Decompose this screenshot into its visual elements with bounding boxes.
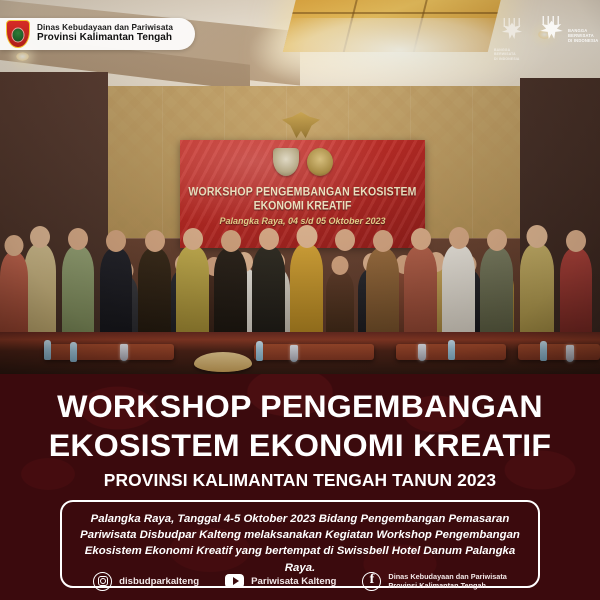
water-bottle <box>448 340 455 360</box>
organization-name: Dinas Kebudayaan dan Pariwisata Provinsi… <box>37 24 173 43</box>
title-line-2: EKOSISTEM EKONOMI KREATIF <box>0 430 600 462</box>
organization-logo-bar: Dinas Kebudayaan dan Pariwisata Provinsi… <box>0 18 195 50</box>
backdrop-emblems <box>260 148 346 178</box>
instagram-icon[interactable] <box>93 572 112 591</box>
wonderful-indonesia-icon: BANGGABERWISATADI INDONESIA <box>500 22 524 48</box>
youtube-link[interactable]: Pariwisata Kalteng <box>225 574 336 588</box>
wonderful-indonesia-icon: BANGGABERWISATADI INDONESIA <box>538 20 565 49</box>
food-platter <box>194 352 252 372</box>
table <box>44 344 174 360</box>
wonderful-indonesia-label: BANGGABERWISATADI INDONESIA <box>494 48 520 61</box>
kalteng-crest-icon <box>273 148 299 176</box>
org-line-2: Provinsi Kalimantan Tengah <box>37 33 173 44</box>
participants-group <box>0 218 600 348</box>
instagram-handle: disbudparkalteng <box>119 576 199 587</box>
instagram-link[interactable]: disbudparkalteng <box>93 572 199 591</box>
drinking-glass <box>120 344 128 361</box>
water-bottle <box>540 341 547 361</box>
facebook-line-1: Dinas Kebudayaan dan Pariwisata <box>388 572 506 581</box>
ministry-emblem-icon <box>307 148 333 176</box>
title-block: WORKSHOP PENGEMBANGAN EKOSISTEM EKONOMI … <box>0 374 600 491</box>
youtube-icon[interactable] <box>225 574 244 588</box>
backdrop-title-line2: EKONOMI KREATIF <box>180 199 425 213</box>
downlight-icon <box>16 52 29 61</box>
poster-content: WORKSHOP PENGEMBANGAN EKOSISTEM EKONOMI … <box>0 374 600 600</box>
water-bottle <box>256 341 263 361</box>
youtube-handle: Pariwisata Kalteng <box>251 576 336 587</box>
facebook-icon[interactable]: f <box>362 572 381 591</box>
table <box>518 344 600 360</box>
water-bottle <box>44 340 51 360</box>
kalteng-crest-icon <box>6 20 30 48</box>
facebook-link[interactable]: f Dinas Kebudayaan dan Pariwisata Provin… <box>362 572 506 591</box>
wonderful-indonesia-label: BANGGABERWISATADI INDONESIA <box>568 28 598 43</box>
title-line-1: WORKSHOP PENGEMBANGAN <box>0 391 600 423</box>
poster: WORKSHOP PENGEMBANGAN EKOSISTEM EKONOMI … <box>0 0 600 600</box>
facebook-line-2: Provinsi Kalimantan Tengah <box>388 581 486 590</box>
subtitle: PROVINSI KALIMANTAN TENGAH TANUN 2023 <box>0 470 600 491</box>
facebook-handle: Dinas Kebudayaan dan Pariwisata Provinsi… <box>388 572 506 590</box>
backdrop-title-line1: WORKSHOP PENGEMBANGAN EKOSISTEM <box>180 185 425 199</box>
drinking-glass <box>566 345 574 362</box>
drinking-glass <box>290 345 298 362</box>
water-bottle <box>70 342 77 362</box>
drinking-glass <box>418 344 426 361</box>
table <box>254 344 374 360</box>
social-links: disbudparkalteng Pariwisata Kalteng f Di… <box>0 564 600 598</box>
